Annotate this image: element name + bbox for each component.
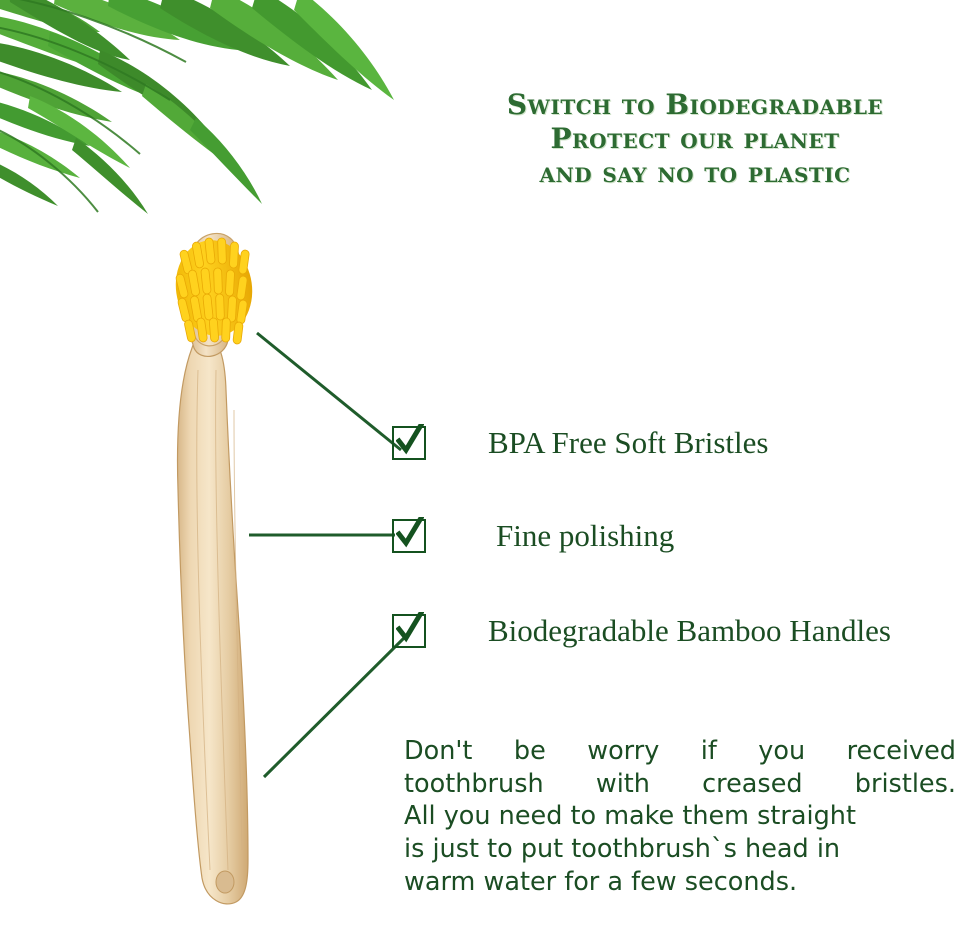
feature-label: BPA Free Soft Bristles xyxy=(488,425,768,461)
leader-line-1 xyxy=(255,330,405,455)
checkmark-icon xyxy=(392,519,426,553)
checkmark-icon xyxy=(392,426,426,460)
feature-label: Biodegradable Bamboo Handles xyxy=(488,613,891,649)
note-line-2: toothbrush with creased bristles. xyxy=(404,768,956,801)
headline-line-3: and say no to plastic xyxy=(430,156,960,190)
leader-line-3 xyxy=(262,635,407,780)
feature-item-bpa-free-soft-bristles: BPA Free Soft Bristles xyxy=(392,425,768,461)
feature-item-fine-polishing: Fine polishing xyxy=(392,518,674,554)
page-headline: Switch to Biodegradable Protect our plan… xyxy=(430,88,960,190)
note-line-4: is just to put toothbrush`s head in xyxy=(404,833,956,866)
checkmark-icon xyxy=(392,614,426,648)
headline-line-2: Protect our planet xyxy=(430,122,960,156)
note-line-5: warm water for a few seconds. xyxy=(404,866,956,899)
feature-label: Fine polishing xyxy=(496,518,674,554)
leader-line-2 xyxy=(247,525,397,545)
feature-item-biodegradable-bamboo-handles: Biodegradable Bamboo Handles xyxy=(392,613,891,649)
note-line-3: All you need to make them straight xyxy=(404,800,956,833)
note-line-1: Don't be worry if you received xyxy=(404,735,956,768)
headline-line-1: Switch to Biodegradable xyxy=(430,88,960,122)
care-instructions-note: Don't be worry if you received toothbrus… xyxy=(404,735,956,898)
bamboo-leaves-decoration xyxy=(0,0,410,218)
promotional-image: Switch to Biodegradable Protect our plan… xyxy=(0,0,962,930)
